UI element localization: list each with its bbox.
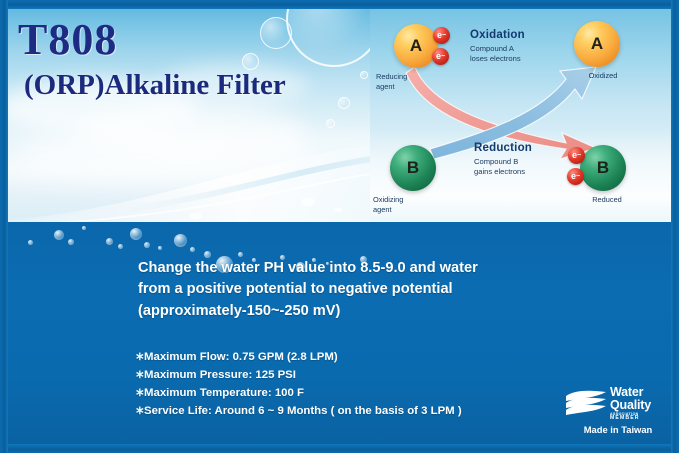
spec-item: ∗Maximum Flow: 0.75 GPM (2.8 LPM): [135, 348, 605, 366]
spec-item: ∗Service Life: Around 6 ~ 9 Months ( on …: [135, 402, 605, 420]
water-droplet-icon: [106, 238, 113, 245]
water-droplet-icon: [68, 239, 74, 245]
water-droplet-icon: [174, 234, 187, 247]
water-droplet-icon: [28, 240, 33, 245]
spec-item-text: Service Life: Around 6 ~ 9 Months ( on t…: [144, 405, 462, 417]
bubble-icon: [360, 71, 368, 79]
water-droplet-icon: [54, 230, 64, 240]
water-droplet-icon: [130, 228, 142, 240]
spec-item-text: Maximum Temperature: 100 F: [144, 387, 304, 399]
oxidation-line-1: Compound A: [470, 44, 521, 54]
headline-line-1: Change the water PH value into 8.5-9.0 a…: [138, 258, 568, 279]
headline-line-3: (approximately-150~-250 mV): [138, 301, 568, 322]
caption-reducing-agent: Reducingagent: [376, 72, 458, 91]
reduction-heading: Reduction: [474, 142, 532, 154]
water-droplet-icon: [158, 246, 162, 250]
logo-text: Water Quality ASSOCIATION MEMBER: [610, 386, 651, 421]
electron-icon: e−: [432, 48, 449, 65]
frame-left-bar: [0, 0, 8, 453]
sphere-compound-a-right: A: [574, 21, 620, 67]
bullet-icon: ∗: [135, 366, 144, 384]
product-subtitle: (ORP)Alkaline Filter: [24, 70, 286, 102]
bubble-icon: [338, 97, 350, 109]
oxidation-heading: Oxidation: [470, 29, 525, 41]
reduction-line-1: Compound B: [474, 157, 525, 167]
orp-redox-diagram: A e− e− Reducingagent B Oxidizingagent A…: [370, 9, 671, 222]
product-title-block: T808 (ORP)Alkaline Filter: [18, 18, 286, 102]
logo-member: MEMBER: [610, 416, 651, 421]
water-droplet-icon: [204, 251, 211, 258]
bubble-icon: [286, 9, 382, 67]
water-droplet-icon: [82, 226, 86, 230]
reduction-line-2: gains electrons: [474, 167, 525, 177]
caption-oxidizing-agent: Oxidizingagent: [373, 195, 459, 214]
bullet-icon: ∗: [135, 384, 144, 402]
wave-logo-icon: [565, 389, 607, 417]
made-in-label: Made in Taiwan: [566, 424, 670, 435]
oxidation-line-2: loses electrons: [470, 54, 521, 64]
logo-line-2: Quality: [610, 398, 651, 412]
headline-text: Change the water PH value into 8.5-9.0 a…: [138, 258, 568, 322]
spec-item: ∗Maximum Pressure: 125 PSI: [135, 366, 605, 384]
electron-icon: e−: [567, 168, 584, 185]
electron-icon: e−: [568, 147, 585, 164]
spec-item-text: Maximum Pressure: 125 PSI: [144, 369, 296, 381]
sphere-label: B: [580, 158, 626, 178]
spec-list: ∗Maximum Flow: 0.75 GPM (2.8 LPM) ∗Maxim…: [135, 348, 605, 420]
bullet-icon: ∗: [135, 348, 144, 366]
headline-line-2: from a positive potential to negative po…: [138, 279, 568, 300]
spec-item-text: Maximum Flow: 0.75 GPM (2.8 LPM): [144, 351, 338, 363]
product-banner: A e− e− Reducingagent B Oxidizingagent A…: [0, 0, 679, 453]
sphere-compound-b-left: B: [390, 145, 436, 191]
bullet-icon: ∗: [135, 402, 144, 420]
spec-item: ∗Maximum Temperature: 100 F: [135, 384, 605, 402]
water-droplet-icon: [190, 247, 195, 252]
water-droplet-icon: [118, 244, 123, 249]
frame-bottom-bar: [0, 444, 679, 453]
frame-right-bar: [671, 0, 679, 453]
water-droplet-icon: [144, 242, 150, 248]
sphere-label: B: [390, 158, 436, 178]
sphere-label: A: [574, 34, 620, 54]
electron-icon: e−: [433, 27, 450, 44]
sphere-compound-a-left: A: [394, 24, 438, 68]
sphere-compound-b-right: B: [580, 145, 626, 191]
frame-top-bar: [0, 0, 679, 9]
product-model: T808: [18, 18, 286, 62]
caption-oxidized: Oxidized: [568, 71, 638, 81]
water-droplet-icon: [238, 252, 243, 257]
caption-reduced: Reduced: [572, 195, 642, 205]
